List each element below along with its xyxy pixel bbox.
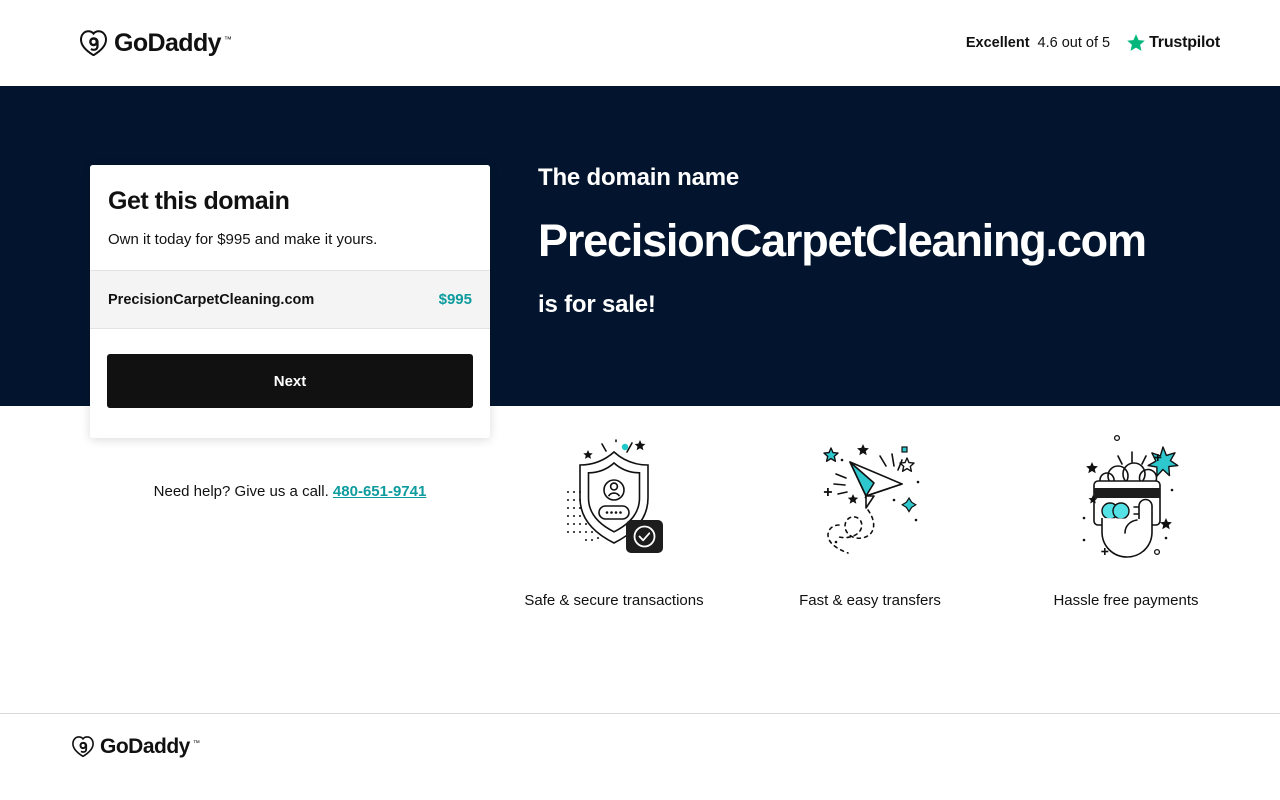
domain-listing-row: PrecisionCarpetCleaning.com $995 [90,270,490,329]
purchase-card-header: Get this domain Own it today for $995 an… [90,165,490,270]
page-footer: GoDaddy ™ Copyright © 2026 GoDaddy Opera… [0,714,1280,800]
paper-plane-icon [806,430,934,572]
next-button[interactable]: Next [107,354,473,408]
listing-price: $995 [439,291,472,308]
godaddy-trademark: ™ [224,35,232,44]
purchase-card-subtitle: Own it today for $995 and make it yours. [108,231,472,248]
footer-logo-text: GoDaddy [100,736,190,757]
purchase-card-title: Get this domain [108,187,472,216]
feature-label: Hassle free payments [1053,592,1198,609]
trustpilot-rating[interactable]: Excellent 4.6 out of 5 Trustpilot [966,33,1220,53]
godaddy-heart-logo-icon [80,30,107,56]
help-text: Need help? Give us a call. 480-651-9741 [90,483,490,500]
feature-label: Safe & secure transactions [524,592,703,609]
help-label: Need help? Give us a call. [154,483,329,500]
godaddy-logo-text: GoDaddy [114,31,221,56]
trustpilot-star-icon [1126,33,1146,53]
feature-list: Safe & secure transactions [500,430,1240,609]
help-phone-link[interactable]: 480-651-9741 [333,483,426,500]
feature-fast-transfers: Fast & easy transfers [756,430,984,609]
hero-domain-name: PrecisionCarpetCleaning.com [538,215,1146,267]
feature-hassle-free-payments: Hassle free payments [1012,430,1240,609]
top-header: GoDaddy ™ Excellent 4.6 out of 5 Trustpi… [0,0,1280,86]
credit-card-hand-icon [1062,430,1190,572]
purchase-card: Get this domain Own it today for $995 an… [90,165,490,438]
trustpilot-brand: Trustpilot [1126,33,1220,53]
domain-sale-page: GoDaddy ™ Excellent 4.6 out of 5 Trustpi… [0,0,1280,800]
trustpilot-brand-name: Trustpilot [1149,34,1220,52]
godaddy-logo[interactable]: GoDaddy ™ [80,30,232,56]
purchase-card-footer: Next [90,329,490,438]
trustpilot-rating-word: Excellent [966,35,1030,51]
feature-safe-secure: Safe & secure transactions [500,430,728,609]
footer-trademark: ™ [193,740,200,747]
hero-line-3: is for sale! [538,291,1146,319]
footer-godaddy-logo[interactable]: GoDaddy ™ [72,736,200,757]
godaddy-heart-logo-icon [72,736,94,757]
shield-security-icon [550,430,678,572]
listing-domain-name: PrecisionCarpetCleaning.com [108,292,314,308]
hero-line-1: The domain name [538,164,1146,192]
hero-text-block: The domain name PrecisionCarpetCleaning.… [538,164,1146,319]
trustpilot-score: 4.6 out of 5 [1038,35,1111,51]
feature-label: Fast & easy transfers [799,592,941,609]
